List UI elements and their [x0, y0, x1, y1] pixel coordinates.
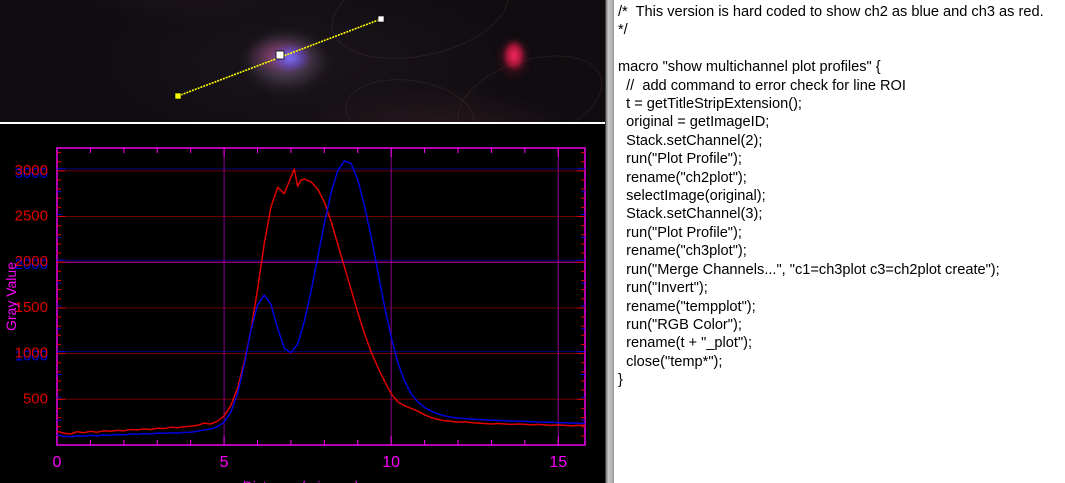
- series-line-red: [57, 169, 585, 434]
- ytick-label-red: 2500: [15, 208, 48, 225]
- roi-handle-end[interactable]: [378, 16, 384, 22]
- series-line-blue: [57, 161, 585, 437]
- ytick-label-red: 1500: [15, 299, 48, 316]
- roi-handle-start[interactable]: [175, 93, 181, 99]
- ytick-label-red: 1000: [15, 345, 48, 362]
- app-root: 1000200030005001000150020002500300005101…: [0, 0, 1065, 483]
- xtick-label: 5: [220, 454, 229, 471]
- ytick-label-red: 2000: [15, 253, 48, 270]
- macro-source-code[interactable]: /* This version is hard coded to show ch…: [614, 0, 1065, 390]
- xtick-label: 10: [382, 454, 400, 471]
- ytick-label-red: 3000: [15, 162, 48, 179]
- macro-editor-panel[interactable]: /* This version is hard coded to show ch…: [613, 0, 1065, 483]
- y-axis-label: Gray Value: [3, 262, 19, 331]
- line-roi-overlay[interactable]: [0, 0, 605, 122]
- plot-profile-window[interactable]: 1000200030005001000150020002500300005101…: [0, 122, 605, 483]
- xtick-label: 15: [549, 454, 567, 471]
- ytick-label-red: 500: [23, 390, 48, 407]
- plot-frame: [57, 148, 585, 445]
- x-axis-label: Distance (microns): [243, 478, 360, 483]
- micrograph-canvas[interactable]: [0, 0, 605, 122]
- plot-profile-chart: 1000200030005001000150020002500300005101…: [0, 124, 605, 483]
- imagej-image-panel: 1000200030005001000150020002500300005101…: [0, 0, 605, 483]
- roi-handle-mid[interactable]: [276, 51, 284, 59]
- xtick-label: 0: [53, 454, 62, 471]
- window-divider-scrollbar[interactable]: [605, 0, 613, 483]
